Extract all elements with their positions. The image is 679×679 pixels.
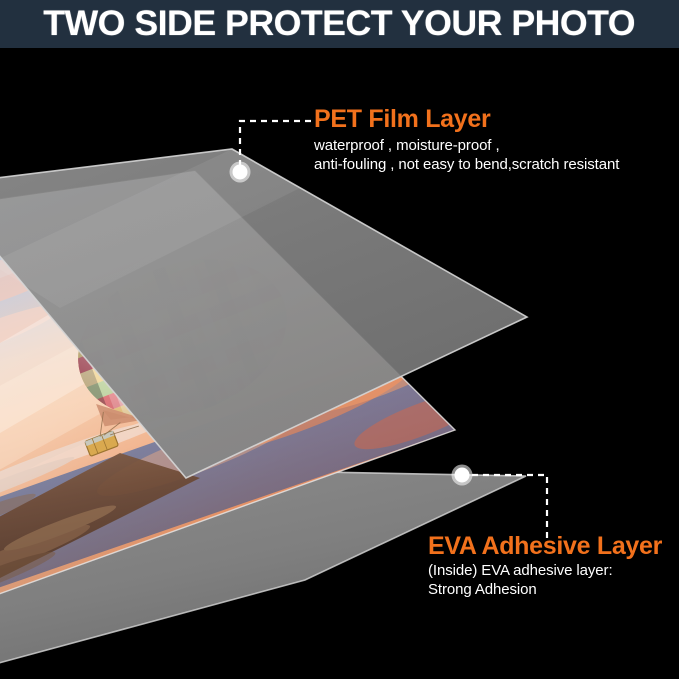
page-title: TWO SIDE PROTECT YOUR PHOTO [44,4,636,44]
callout-pet-film-layer: PET Film Layer waterproof , moisture-pro… [314,106,619,174]
pet-callout-body: waterproof , moisture-proof , anti-fouli… [314,137,619,174]
eva-callout-body-line-1: (Inside) EVA adhesive layer: [428,562,662,580]
eva-callout-body-line-2: Strong Adhesion [428,581,662,599]
callout-eva-adhesive-layer: EVA Adhesive Layer (Inside) EVA adhesive… [428,533,662,599]
pet-callout-title: PET Film Layer [314,106,619,132]
pet-callout-body-line-1: waterproof , moisture-proof , [314,137,619,155]
layer-diagram: PET Film Layer waterproof , moisture-pro… [0,48,679,679]
header-banner: TWO SIDE PROTECT YOUR PHOTO [0,0,679,48]
pet-callout-body-line-2: anti-fouling , not easy to bend,scratch … [314,156,619,174]
pet-layer-marker[interactable] [233,165,248,180]
eva-layer-marker[interactable] [455,468,470,483]
eva-callout-body: (Inside) EVA adhesive layer: Strong Adhe… [428,562,662,599]
infographic-canvas: TWO SIDE PROTECT YOUR PHOTO [0,0,679,679]
eva-callout-title: EVA Adhesive Layer [428,533,662,559]
